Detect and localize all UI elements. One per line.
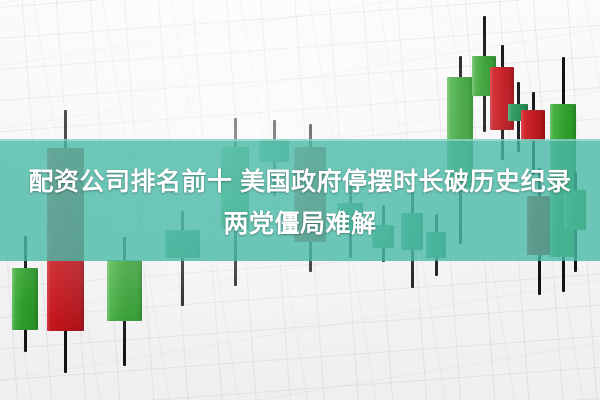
- candle-body-down: [521, 110, 545, 141]
- candle-body-up: [12, 268, 38, 330]
- headline-line-2: 两党僵局难解: [0, 204, 600, 244]
- candle-body-up: [107, 260, 142, 321]
- candlestick-news-thumbnail: 配资公司排名前十 美国政府停摆时长破历史纪录 两党僵局难解: [0, 0, 600, 400]
- headline-line-1: 配资公司排名前十 美国政府停摆时长破历史纪录: [0, 162, 600, 202]
